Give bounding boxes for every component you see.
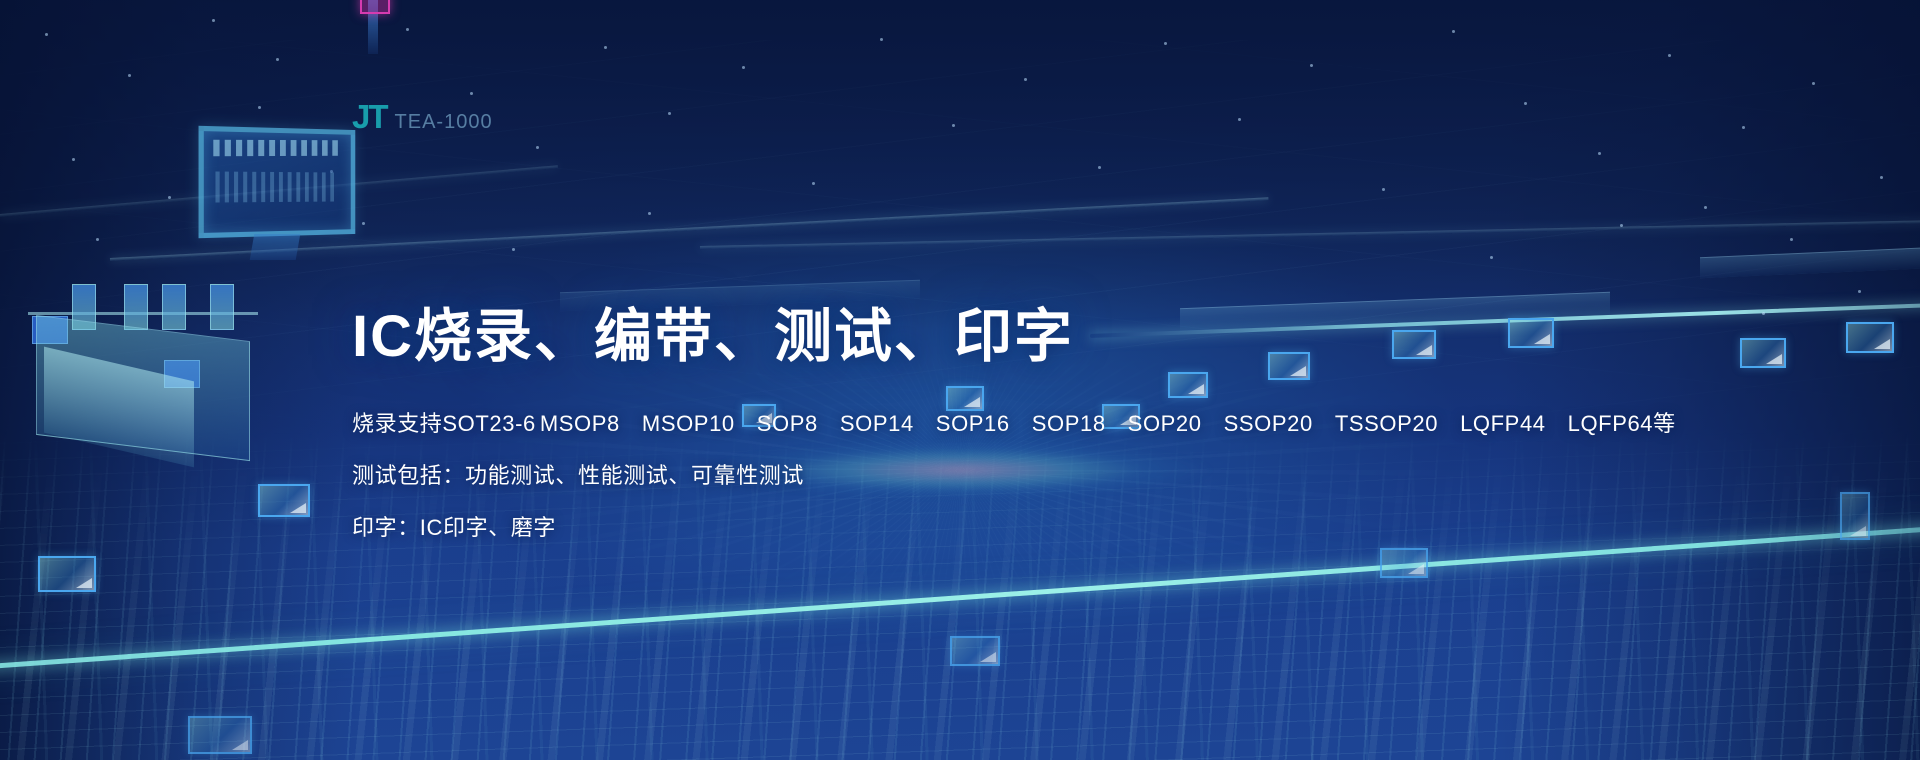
page-title: IC烧录、编带、测试、印字 [352, 306, 1592, 369]
burn-in-machine-illustration [14, 268, 324, 508]
monitor-stand [250, 234, 301, 260]
ic-tray-icon [1846, 322, 1894, 353]
ic-tray-icon [188, 716, 252, 754]
ic-tray-icon [258, 484, 310, 517]
hero-banner: JT TEA-1000 IC烧录、编带、测试、印字 烧录支持SOT23-6MSO… [0, 0, 1920, 760]
ic-tray-icon [38, 556, 96, 592]
equipment-model-label: TEA-1000 [395, 111, 493, 134]
package-item: SOP16 [936, 413, 1010, 435]
packages-lead-label: 烧录支持SOT23-6 [352, 411, 536, 436]
equipment-brand-mark: JT TEA-1000 [352, 98, 493, 136]
control-monitor-illustration [200, 128, 360, 236]
machine-cylinder-3 [162, 284, 186, 330]
banner-copy: IC烧录、编带、测试、印字 烧录支持SOT23-6MSOP8MSOP10SOP8… [352, 306, 1592, 539]
testing-line: 测试包括：功能测试、性能测试、可靠性测试 [352, 465, 1592, 487]
ic-tray-icon [1740, 338, 1786, 368]
package-item: SOP20 [1128, 413, 1202, 435]
package-item: MSOP10 [642, 413, 735, 435]
package-item: SOP18 [1032, 413, 1106, 435]
machine-cylinder-4 [210, 284, 234, 330]
package-item: SOP14 [840, 413, 914, 435]
packages-line: 烧录支持SOT23-6MSOP8MSOP10SOP8SOP14SOP16SOP1… [352, 413, 1592, 435]
monitor-screen-rows [215, 172, 334, 203]
jt-logo-icon: JT [352, 98, 387, 136]
marking-line: 印字：IC印字、磨字 [352, 517, 1592, 539]
package-item: LQFP64等 [1568, 413, 1676, 435]
package-item: SSOP20 [1224, 413, 1313, 435]
machine-cylinder-2 [124, 284, 148, 330]
package-item: LQFP44 [1460, 413, 1546, 435]
package-item: TSSOP20 [1335, 413, 1438, 435]
ic-tray-icon [1380, 548, 1428, 578]
ic-tray-icon [950, 636, 1000, 666]
package-item: MSOP8 [540, 413, 620, 435]
monitor-screen-toolbar [213, 140, 340, 157]
ic-component-icon [1840, 492, 1870, 540]
magenta-indicator-icon [360, 0, 390, 14]
package-item: SOP8 [757, 413, 818, 435]
